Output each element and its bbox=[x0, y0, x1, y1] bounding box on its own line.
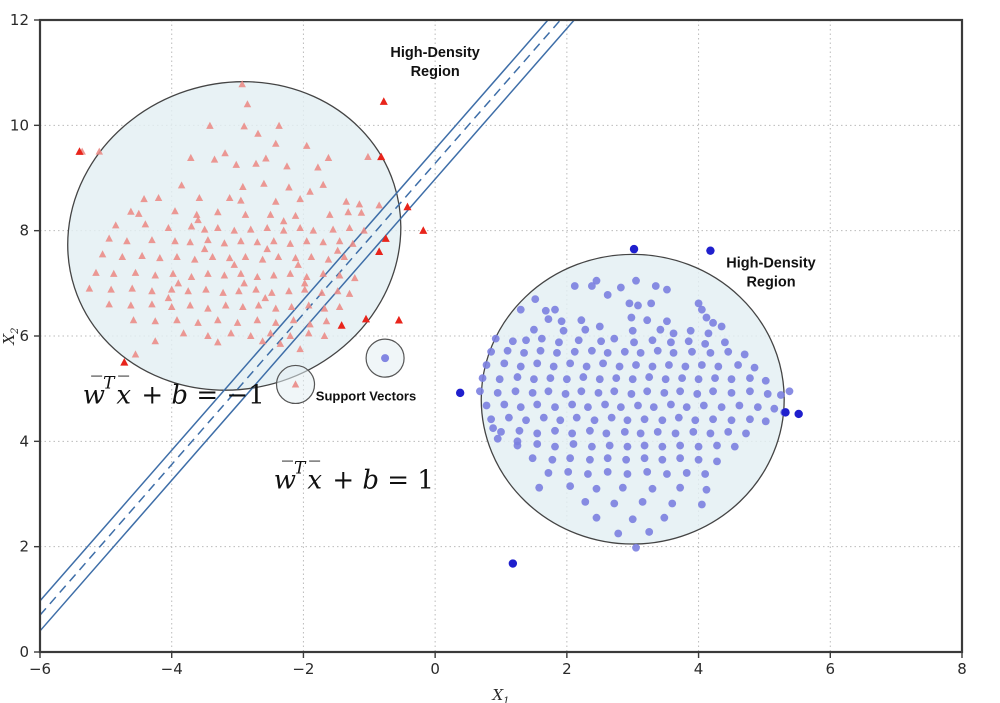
marker-circle bbox=[629, 375, 637, 383]
marker-circle bbox=[533, 430, 541, 438]
marker-circle bbox=[668, 500, 676, 508]
marker-circle bbox=[517, 306, 525, 314]
marker-circle bbox=[479, 374, 487, 382]
marker-circle bbox=[575, 336, 583, 344]
marker-circle bbox=[658, 443, 666, 451]
marker-circle bbox=[721, 338, 729, 346]
marker-circle bbox=[656, 326, 664, 334]
high-density-label-line1: High-Density bbox=[390, 45, 479, 61]
marker-circle bbox=[489, 424, 497, 432]
marker-circle bbox=[736, 402, 744, 410]
y-tick-label: 0 bbox=[19, 643, 29, 661]
high-density-label-line1: High-Density bbox=[726, 256, 815, 272]
marker-circle bbox=[584, 403, 592, 411]
y-tick-label: 2 bbox=[19, 538, 29, 556]
marker-circle bbox=[529, 389, 537, 397]
marker-circle bbox=[647, 299, 655, 307]
high-density-label-line2: Region bbox=[746, 275, 795, 291]
marker-circle bbox=[624, 443, 632, 451]
x-tick-label: 2 bbox=[562, 660, 572, 678]
marker-circle bbox=[703, 314, 711, 322]
marker-circle bbox=[558, 317, 566, 325]
marker-circle bbox=[546, 374, 554, 382]
marker-circle bbox=[579, 373, 587, 381]
marker-circle bbox=[604, 454, 612, 462]
marker-circle bbox=[483, 361, 491, 369]
marker-circle bbox=[566, 482, 574, 490]
marker-circle bbox=[770, 405, 778, 413]
marker-circle bbox=[530, 375, 538, 383]
marker-circle bbox=[695, 375, 703, 383]
marker-circle bbox=[672, 430, 680, 438]
marker-circle bbox=[560, 327, 568, 335]
y-tick-label: 8 bbox=[19, 222, 29, 240]
marker-circle bbox=[483, 402, 491, 410]
marker-circle bbox=[617, 284, 625, 292]
marker-circle bbox=[494, 435, 502, 443]
marker-circle bbox=[746, 374, 754, 382]
x-tick-label: 8 bbox=[957, 660, 967, 678]
marker-circle bbox=[516, 427, 524, 435]
marker-circle bbox=[630, 245, 638, 253]
marker-circle bbox=[545, 387, 553, 395]
marker-circle bbox=[514, 373, 522, 381]
marker-circle bbox=[676, 442, 684, 450]
marker-circle bbox=[514, 437, 522, 445]
marker-circle bbox=[670, 349, 678, 357]
marker-circle bbox=[728, 416, 736, 424]
marker-circle bbox=[713, 442, 721, 450]
marker-circle bbox=[545, 315, 553, 323]
marker-circle bbox=[568, 430, 576, 438]
x-tick-label: 6 bbox=[826, 660, 836, 678]
marker-circle bbox=[517, 363, 525, 371]
marker-circle bbox=[676, 387, 684, 395]
marker-circle bbox=[542, 307, 550, 315]
marker-circle bbox=[724, 428, 732, 436]
marker-circle bbox=[494, 389, 502, 397]
marker-circle bbox=[649, 485, 657, 493]
marker-circle bbox=[614, 530, 622, 538]
marker-circle bbox=[610, 500, 618, 508]
marker-circle bbox=[688, 348, 696, 356]
marker-circle bbox=[504, 347, 512, 355]
marker-circle bbox=[762, 377, 770, 385]
marker-circle bbox=[650, 403, 658, 411]
marker-circle bbox=[562, 390, 570, 398]
marker-circle bbox=[676, 454, 684, 462]
marker-circle bbox=[577, 387, 585, 395]
marker-circle bbox=[604, 468, 612, 476]
y-tick-label: 12 bbox=[10, 11, 29, 29]
marker-circle bbox=[566, 454, 574, 462]
marker-circle bbox=[476, 387, 484, 395]
marker-circle bbox=[649, 336, 657, 344]
marker-circle bbox=[662, 375, 670, 383]
marker-circle bbox=[487, 348, 495, 356]
marker-circle bbox=[701, 470, 709, 478]
marker-circle bbox=[596, 323, 604, 331]
marker-circle bbox=[537, 347, 545, 355]
marker-circle bbox=[632, 361, 640, 369]
marker-circle bbox=[709, 319, 717, 327]
marker-circle bbox=[535, 484, 543, 492]
marker-circle bbox=[746, 387, 754, 395]
x-tick-label: 4 bbox=[694, 660, 704, 678]
marker-circle bbox=[584, 470, 592, 478]
marker-circle bbox=[654, 347, 662, 355]
marker-circle bbox=[505, 414, 513, 422]
marker-circle bbox=[632, 544, 640, 552]
marker-circle bbox=[728, 389, 736, 397]
marker-circle bbox=[581, 498, 589, 506]
marker-circle bbox=[487, 415, 495, 423]
marker-circle bbox=[616, 363, 624, 371]
marker-circle bbox=[643, 468, 651, 476]
marker-circle bbox=[654, 428, 662, 436]
marker-circle bbox=[492, 335, 500, 343]
marker-circle bbox=[685, 337, 693, 345]
marker-circle bbox=[624, 416, 632, 424]
marker-circle bbox=[456, 389, 464, 397]
marker-circle bbox=[586, 456, 594, 464]
marker-circle bbox=[550, 363, 558, 371]
marker-circle bbox=[706, 246, 714, 254]
marker-circle bbox=[794, 410, 802, 418]
marker-circle bbox=[703, 486, 711, 494]
marker-circle bbox=[596, 375, 604, 383]
marker-circle bbox=[496, 375, 504, 383]
marker-circle bbox=[695, 456, 703, 464]
marker-circle bbox=[622, 456, 630, 464]
marker-circle bbox=[551, 306, 559, 314]
marker-circle bbox=[645, 528, 653, 536]
marker-circle bbox=[604, 291, 612, 299]
marker-circle bbox=[551, 427, 559, 435]
marker-circle bbox=[634, 302, 642, 310]
marker-circle bbox=[687, 327, 695, 335]
marker-circle bbox=[637, 430, 645, 438]
marker-circle bbox=[533, 359, 541, 367]
marker-circle bbox=[754, 403, 762, 411]
marker-circle bbox=[512, 387, 520, 395]
marker-circle bbox=[707, 430, 715, 438]
marker-circle bbox=[682, 363, 690, 371]
marker-circle bbox=[595, 389, 603, 397]
marker-circle bbox=[509, 337, 517, 345]
marker-circle bbox=[728, 375, 736, 383]
marker-circle bbox=[665, 361, 673, 369]
marker-circle bbox=[632, 277, 640, 285]
marker-circle bbox=[637, 349, 645, 357]
marker-circle bbox=[777, 391, 785, 399]
marker-circle bbox=[709, 387, 717, 395]
marker-circle bbox=[663, 286, 671, 294]
marker-circle bbox=[764, 390, 772, 398]
marker-circle bbox=[643, 387, 651, 395]
marker-circle bbox=[610, 387, 618, 395]
marker-circle bbox=[678, 374, 686, 382]
marker-circle bbox=[627, 390, 635, 398]
marker-circle bbox=[713, 457, 721, 465]
marker-circle bbox=[663, 470, 671, 478]
marker-circle bbox=[621, 428, 629, 436]
marker-circle bbox=[630, 338, 638, 346]
marker-circle bbox=[786, 387, 794, 395]
marker-circle bbox=[533, 440, 541, 448]
marker-circle bbox=[588, 347, 596, 355]
marker-circle bbox=[381, 354, 389, 362]
marker-circle bbox=[610, 335, 618, 343]
marker-circle bbox=[667, 401, 675, 409]
x-tick-label: −4 bbox=[161, 660, 183, 678]
svm-scatter-figure: −6−4−202468024681012X1X2 High-DensityReg… bbox=[0, 0, 1000, 703]
marker-circle bbox=[624, 470, 632, 478]
marker-circle bbox=[604, 349, 612, 357]
marker-circle bbox=[540, 414, 548, 422]
marker-circle bbox=[593, 514, 601, 522]
marker-circle bbox=[500, 359, 508, 367]
marker-circle bbox=[705, 329, 713, 337]
marker-circle bbox=[660, 389, 668, 397]
marker-circle bbox=[583, 363, 591, 371]
marker-circle bbox=[588, 282, 596, 290]
marker-circle bbox=[608, 414, 616, 422]
marker-circle bbox=[570, 440, 578, 448]
marker-circle bbox=[571, 282, 579, 290]
marker-circle bbox=[718, 403, 726, 411]
chart-canvas: −6−4−202468024681012X1X2 High-DensityReg… bbox=[0, 0, 1000, 703]
marker-circle bbox=[530, 326, 538, 334]
support-vectors-label: Support Vectors bbox=[316, 388, 416, 403]
marker-circle bbox=[597, 337, 605, 345]
marker-circle bbox=[649, 363, 657, 371]
marker-circle bbox=[751, 364, 759, 372]
marker-circle bbox=[612, 374, 620, 382]
marker-circle bbox=[571, 348, 579, 356]
marker-circle bbox=[551, 443, 559, 451]
high-density-region-b bbox=[481, 254, 784, 544]
marker-circle bbox=[652, 282, 660, 290]
marker-circle bbox=[641, 442, 649, 450]
marker-circle bbox=[731, 443, 739, 451]
marker-circle bbox=[601, 401, 609, 409]
marker-circle bbox=[500, 401, 508, 409]
marker-circle bbox=[689, 428, 697, 436]
marker-circle bbox=[698, 361, 706, 369]
marker-circle bbox=[586, 427, 594, 435]
marker-circle bbox=[545, 469, 553, 477]
marker-circle bbox=[593, 485, 601, 493]
marker-circle bbox=[619, 484, 627, 492]
marker-circle bbox=[529, 454, 537, 462]
marker-circle bbox=[742, 430, 750, 438]
marker-circle bbox=[683, 469, 691, 477]
x-tick-label: −6 bbox=[29, 660, 51, 678]
marker-circle bbox=[643, 316, 651, 324]
marker-circle bbox=[695, 443, 703, 451]
marker-circle bbox=[645, 373, 653, 381]
marker-circle bbox=[581, 326, 589, 334]
marker-circle bbox=[762, 417, 770, 425]
marker-circle bbox=[553, 349, 561, 357]
marker-circle bbox=[634, 402, 642, 410]
x-tick-label: −2 bbox=[292, 660, 314, 678]
marker-circle bbox=[670, 329, 678, 337]
marker-circle bbox=[606, 442, 614, 450]
marker-circle bbox=[566, 359, 574, 367]
marker-circle bbox=[781, 408, 789, 416]
marker-circle bbox=[675, 414, 683, 422]
marker-circle bbox=[711, 374, 719, 382]
marker-circle bbox=[563, 375, 571, 383]
marker-circle bbox=[551, 403, 559, 411]
marker-circle bbox=[591, 416, 599, 424]
marker-circle bbox=[641, 454, 649, 462]
marker-circle bbox=[741, 351, 749, 359]
marker-circle bbox=[617, 403, 625, 411]
marker-circle bbox=[627, 314, 635, 322]
marker-circle bbox=[667, 338, 675, 346]
marker-circle bbox=[691, 416, 699, 424]
marker-circle bbox=[533, 401, 541, 409]
marker-circle bbox=[701, 340, 709, 348]
marker-circle bbox=[602, 430, 610, 438]
marker-circle bbox=[698, 501, 706, 509]
marker-circle bbox=[700, 402, 708, 410]
marker-circle bbox=[709, 415, 717, 423]
marker-circle bbox=[707, 349, 715, 357]
marker-circle bbox=[577, 316, 585, 324]
marker-circle bbox=[676, 484, 684, 492]
marker-circle bbox=[724, 348, 732, 356]
marker-circle bbox=[599, 359, 607, 367]
marker-circle bbox=[538, 335, 546, 343]
marker-circle bbox=[509, 559, 517, 567]
marker-circle bbox=[714, 363, 722, 371]
y-tick-label: 4 bbox=[19, 432, 29, 450]
marker-circle bbox=[641, 415, 649, 423]
high-density-label-line2: Region bbox=[411, 64, 460, 80]
marker-circle bbox=[520, 349, 528, 357]
marker-circle bbox=[588, 443, 596, 451]
marker-circle bbox=[626, 299, 634, 307]
marker-circle bbox=[658, 416, 666, 424]
marker-circle bbox=[683, 403, 691, 411]
marker-circle bbox=[718, 323, 726, 331]
marker-circle bbox=[568, 401, 576, 409]
marker-circle bbox=[621, 348, 629, 356]
y-tick-label: 10 bbox=[10, 116, 29, 134]
marker-circle bbox=[693, 390, 701, 398]
marker-circle bbox=[573, 414, 581, 422]
marker-circle bbox=[663, 317, 671, 325]
marker-circle bbox=[658, 456, 666, 464]
marker-circle bbox=[531, 295, 539, 303]
marker-circle bbox=[497, 428, 505, 436]
marker-circle bbox=[629, 515, 637, 523]
x-tick-label: 0 bbox=[430, 660, 440, 678]
marker-circle bbox=[639, 498, 647, 506]
marker-circle bbox=[660, 514, 668, 522]
marker-circle bbox=[548, 456, 556, 464]
marker-circle bbox=[746, 415, 754, 423]
marker-circle bbox=[564, 468, 572, 476]
marker-circle bbox=[698, 306, 706, 314]
marker-circle bbox=[629, 327, 637, 335]
marker-circle bbox=[517, 403, 525, 411]
marker-circle bbox=[522, 336, 530, 344]
marker-circle bbox=[522, 416, 530, 424]
marker-circle bbox=[556, 416, 564, 424]
marker-circle bbox=[555, 338, 563, 346]
marker-circle bbox=[734, 361, 742, 369]
